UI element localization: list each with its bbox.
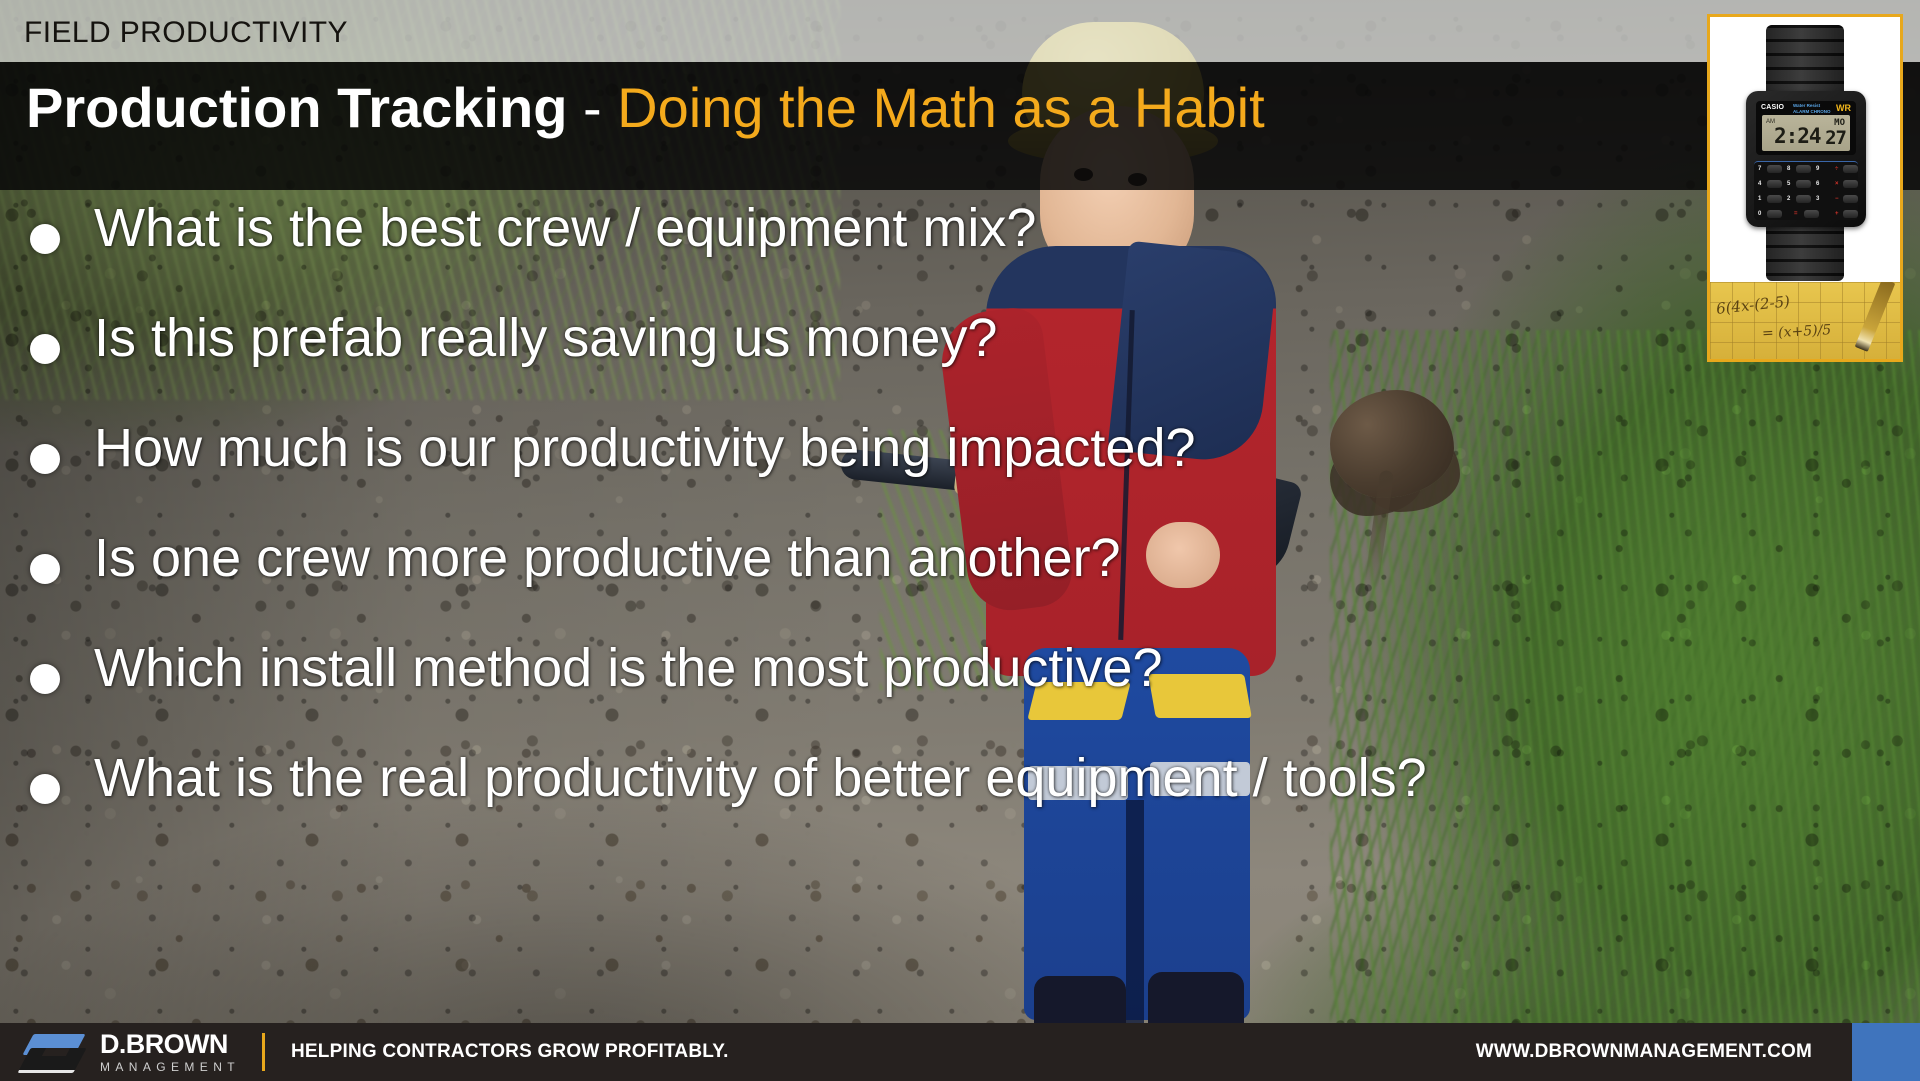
list-item: What is the best crew / equipment mix? [0,200,1720,310]
keypad-row: 4 5 6 × [1757,179,1855,192]
page-title: Production Tracking - Doing the Math as … [26,80,1265,136]
logo-wordmark: D.BROWN MANAGEMENT [100,1031,240,1073]
bullet-dot-icon [30,774,60,804]
footer-website-url[interactable]: WWW.DBROWNMANAGEMENT.COM [1476,1041,1812,1063]
keypad-button [1843,195,1858,203]
logo-company-name: D.BROWN [100,1031,240,1058]
keypad-button [1843,210,1858,218]
bullet-text: What is the best crew / equipment mix? [94,200,1036,257]
keypad-button [1767,165,1782,173]
footer-accent-block [1852,1023,1920,1081]
keypad-key-8: 8 [1787,166,1790,172]
list-item: How much is our productivity being impac… [0,420,1720,530]
brand-logo[interactable]: D.BROWN MANAGEMENT [22,1030,240,1074]
keypad-button [1767,180,1782,188]
keypad-button [1843,180,1858,188]
watch-body: CASIO Water Resist ALARM CHRONO WR AM 2:… [1746,91,1866,227]
watch-alarm-chrono-line: ALARM CHRONO [1793,109,1831,114]
footer-bar: D.BROWN MANAGEMENT HELPING CONTRACTORS G… [0,1023,1920,1081]
bullet-dot-icon [30,334,60,364]
keypad-button [1796,180,1811,188]
watch-brand-label: CASIO [1761,104,1784,111]
bullet-dot-icon [30,554,60,584]
keypad-button [1843,165,1858,173]
keypad-key-9: 9 [1816,166,1819,172]
keypad-key-multiply: × [1835,181,1839,187]
title-separator: - [567,76,617,139]
keypad-key-2: 2 [1787,196,1790,202]
keypad-row: 7 8 9 ÷ [1757,164,1855,177]
keypad-button [1767,195,1782,203]
keypad-key-1: 1 [1758,196,1761,202]
bullet-dot-icon [30,224,60,254]
watch-water-resist-label: Water Resist ALARM CHRONO [1793,103,1831,115]
bullet-dot-icon [30,444,60,474]
logo-shape-notch [42,1048,70,1056]
keypad-key-7: 7 [1758,166,1761,172]
footer-divider [262,1033,265,1071]
keypad-button [1796,165,1811,173]
keypad-key-plus: + [1835,211,1839,217]
keypad-key-3: 3 [1816,196,1819,202]
watch-face: CASIO Water Resist ALARM CHRONO WR AM 2:… [1756,101,1856,155]
math-notes-photo: 6(4x-(2-5) = (x+5)/5 [1710,282,1900,359]
logo-company-subtitle: MANAGEMENT [100,1061,240,1073]
bullet-list: What is the best crew / equipment mix? I… [0,200,1720,860]
list-item: What is the real productivity of better … [0,750,1720,860]
keypad-key-equals: = [1794,211,1798,217]
keypad-key-6: 6 [1816,181,1819,187]
bullet-text: Is this prefab really saving us money? [94,310,997,367]
bullet-text: Which install method is the most product… [94,640,1162,697]
bullet-dot-icon [30,664,60,694]
kicker-label: FIELD PRODUCTIVITY [24,16,348,50]
keypad-key-4: 4 [1758,181,1761,187]
keypad-key-5: 5 [1787,181,1790,187]
keypad-key-minus: − [1835,196,1839,202]
calculator-watch-photo: CASIO Water Resist ALARM CHRONO WR AM 2:… [1710,17,1900,282]
keypad-button [1804,210,1819,218]
slide-root: FIELD PRODUCTIVITY Production Tracking -… [0,0,1920,1081]
watch-keypad: 7 8 9 ÷ 4 5 6 × [1754,161,1858,220]
bullet-text: What is the real productivity of better … [94,750,1427,807]
footer-tagline: HELPING CONTRACTORS GROW PROFITABLY. [291,1041,729,1063]
keypad-row: 0 = + [1757,209,1855,222]
bullet-text: Is one crew more productive than another… [94,530,1121,587]
watch-date-value: 27 [1825,127,1846,149]
keypad-button [1796,195,1811,203]
keypad-key-divide: ÷ [1835,166,1838,172]
watch-wr-badge: WR [1836,103,1851,113]
bullet-text: How much is our productivity being impac… [94,420,1196,477]
list-item: Is one crew more productive than another… [0,530,1720,640]
list-item: Which install method is the most product… [0,640,1720,750]
title-subtitle-text: Doing the Math as a Habit [617,76,1264,139]
dbrown-logo-icon [22,1030,86,1074]
keypad-button [1767,210,1782,218]
title-main-text: Production Tracking [26,76,567,139]
list-item: Is this prefab really saving us money? [0,310,1720,420]
watch-water-resist-line1: Water Resist [1793,103,1820,108]
keypad-row: 1 2 3 − [1757,194,1855,207]
calculator-watch-card: CASIO Water Resist ALARM CHRONO WR AM 2:… [1707,14,1903,362]
watch-time-value: 2:24 [1774,124,1821,148]
watch-lcd-display: AM 2:24 MO 27 [1762,115,1850,151]
keypad-key-0: 0 [1758,211,1761,217]
